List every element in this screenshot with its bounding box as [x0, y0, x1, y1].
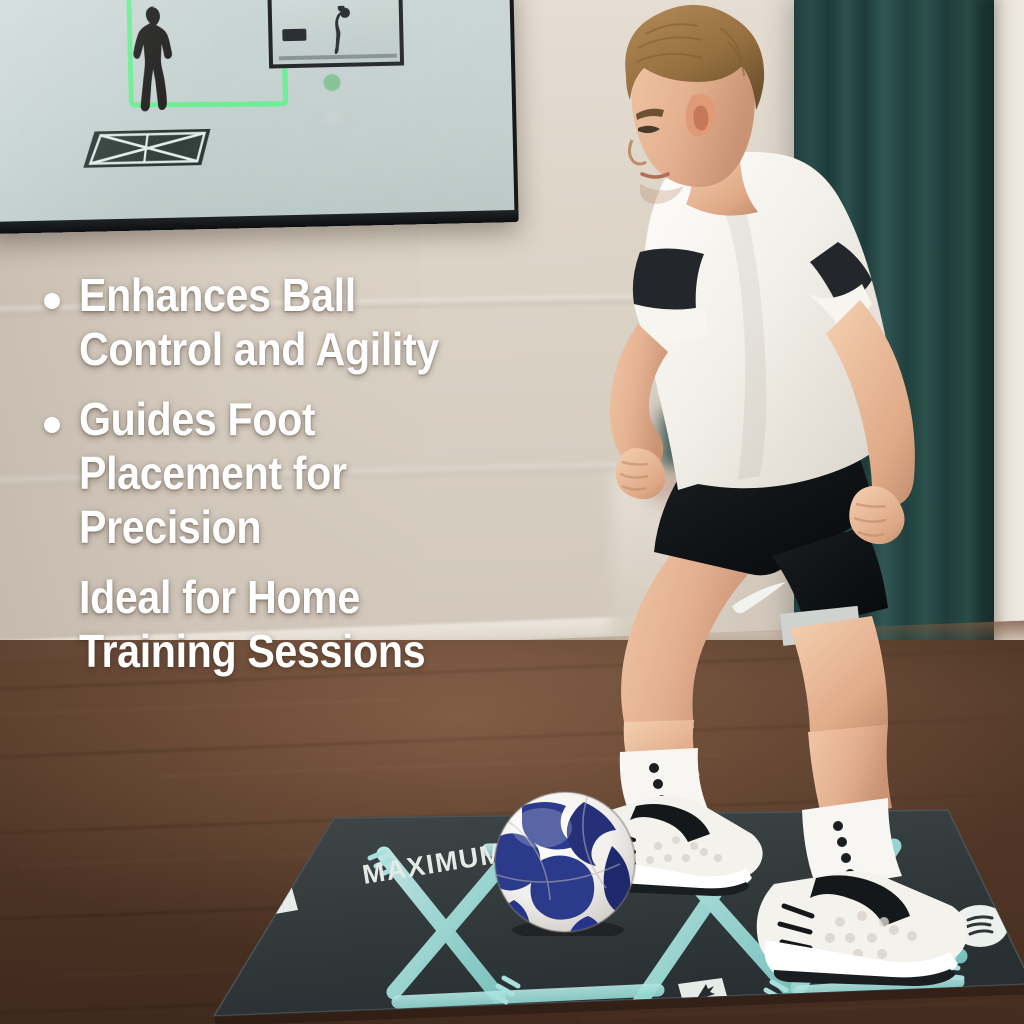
bullet-item-ball-control: Enhances Ball Control and Agility	[44, 268, 604, 376]
bullet-dot-icon	[44, 293, 60, 309]
mouth	[642, 174, 668, 177]
soccer-ball	[492, 788, 638, 936]
bullet-item-foot-placement: Guides Foot Placement for Precision	[44, 392, 604, 554]
bullet-dot-placeholder	[44, 595, 60, 611]
bullet-text-foot-placement: Guides Foot Placement for Precision	[79, 392, 347, 554]
marketing-copy-overlay: Enhances Ball Control and Agility Guides…	[44, 268, 604, 678]
bullet-text-home-training: Ideal for Home Training Sessions	[79, 570, 425, 678]
right-thigh	[790, 616, 888, 732]
tv-screen	[0, 0, 514, 224]
bullet-text-ball-control: Enhances Ball Control and Agility	[79, 268, 439, 376]
wall-mounted-tv	[0, 0, 519, 234]
ear-inner	[694, 106, 709, 131]
nike-swoosh	[732, 582, 786, 613]
product-image-canvas: MAXIMUM	[0, 0, 1024, 1024]
tv-screen-glare	[0, 0, 514, 224]
shirt-left-sleeve-band	[633, 248, 704, 312]
bullet-item-home-training: Ideal for Home Training Sessions	[44, 570, 604, 678]
bullet-dot-icon	[44, 417, 60, 433]
